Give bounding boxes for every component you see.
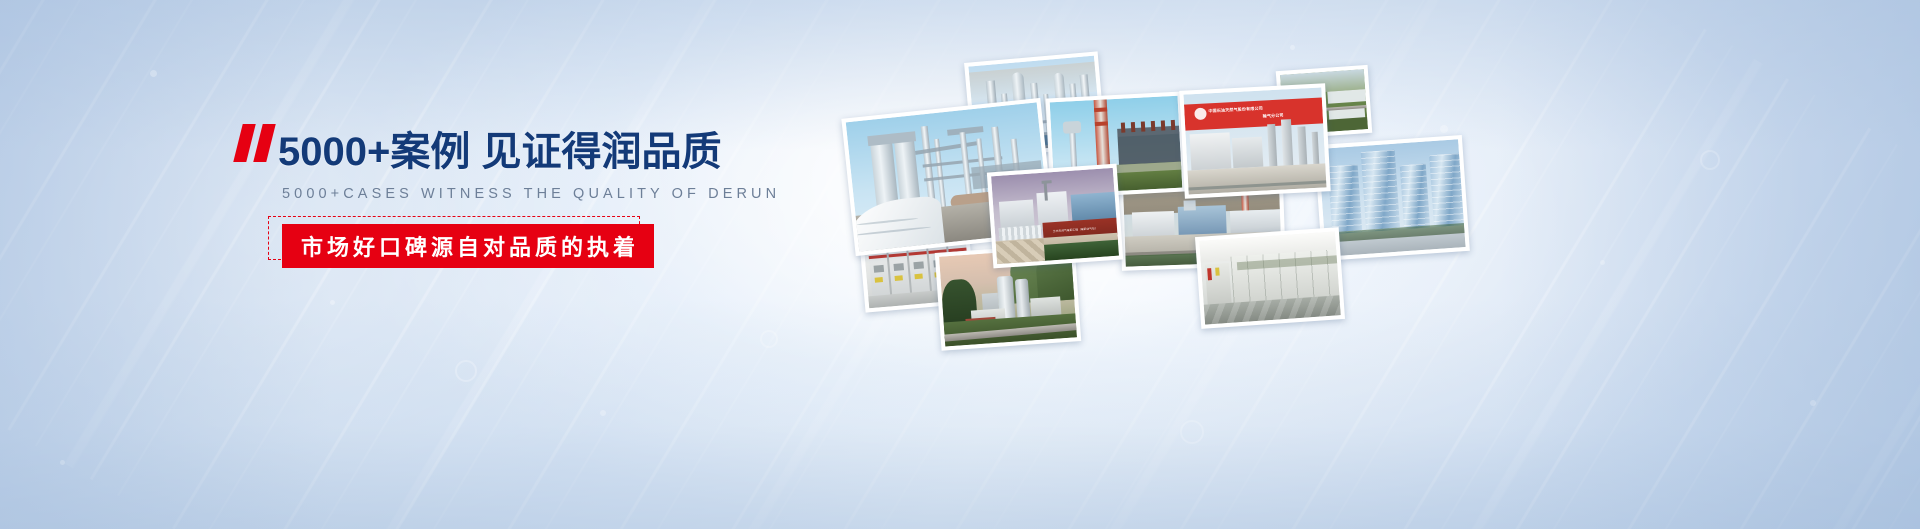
bokeh-dot xyxy=(150,70,157,77)
bokeh-dot xyxy=(1810,400,1816,406)
banner-tagline: 市场好口碑源自对品质的执着 xyxy=(282,224,654,268)
bokeh-ring xyxy=(1700,150,1720,170)
bokeh-dot xyxy=(60,460,65,465)
case-photo-collage: 兰州天然气输配工程（输配站气站） 中国石油天然气股份有限公司 输气分公司 xyxy=(830,40,1530,360)
bokeh-ring xyxy=(760,330,778,348)
bokeh-dot xyxy=(600,410,606,416)
case-showcase-banner: 5000+案例 见证得润品质 5000+CASES WITNESS THE QU… xyxy=(0,0,1920,529)
photo-control-cabinet-row[interactable] xyxy=(1195,227,1345,329)
photo-image: 兰州天然气输配工程（输配站气站） xyxy=(991,168,1119,264)
bokeh-ring xyxy=(1180,420,1204,444)
bokeh-dot xyxy=(1600,260,1605,265)
photo-gas-station-gate[interactable]: 兰州天然气输配工程（输配站气站） xyxy=(987,164,1123,269)
banner-headline: 5000+案例 见证得润品质 xyxy=(278,130,721,174)
bokeh-ring xyxy=(455,360,477,382)
tagline-wrapper: 市场好口碑源自对品质的执着 xyxy=(268,224,654,268)
right-vignette xyxy=(1500,0,1920,529)
bokeh-dot xyxy=(330,300,335,305)
photo-factory-entrance-sign[interactable]: 中国石油天然气股份有限公司 输气分公司 xyxy=(1179,83,1330,198)
banner-text-block: 5000+案例 见证得润品质 5000+CASES WITNESS THE QU… xyxy=(236,118,696,268)
banner-subtitle: 5000+CASES WITNESS THE QUALITY OF DERUN xyxy=(282,186,696,202)
photo-image xyxy=(1318,139,1465,257)
headline-row: 5000+案例 见证得润品质 xyxy=(236,118,696,174)
photo-image: 中国石油天然气股份有限公司 输气分公司 xyxy=(1183,87,1326,194)
photo-image xyxy=(1199,231,1341,324)
quote-mark-icon xyxy=(236,124,280,168)
